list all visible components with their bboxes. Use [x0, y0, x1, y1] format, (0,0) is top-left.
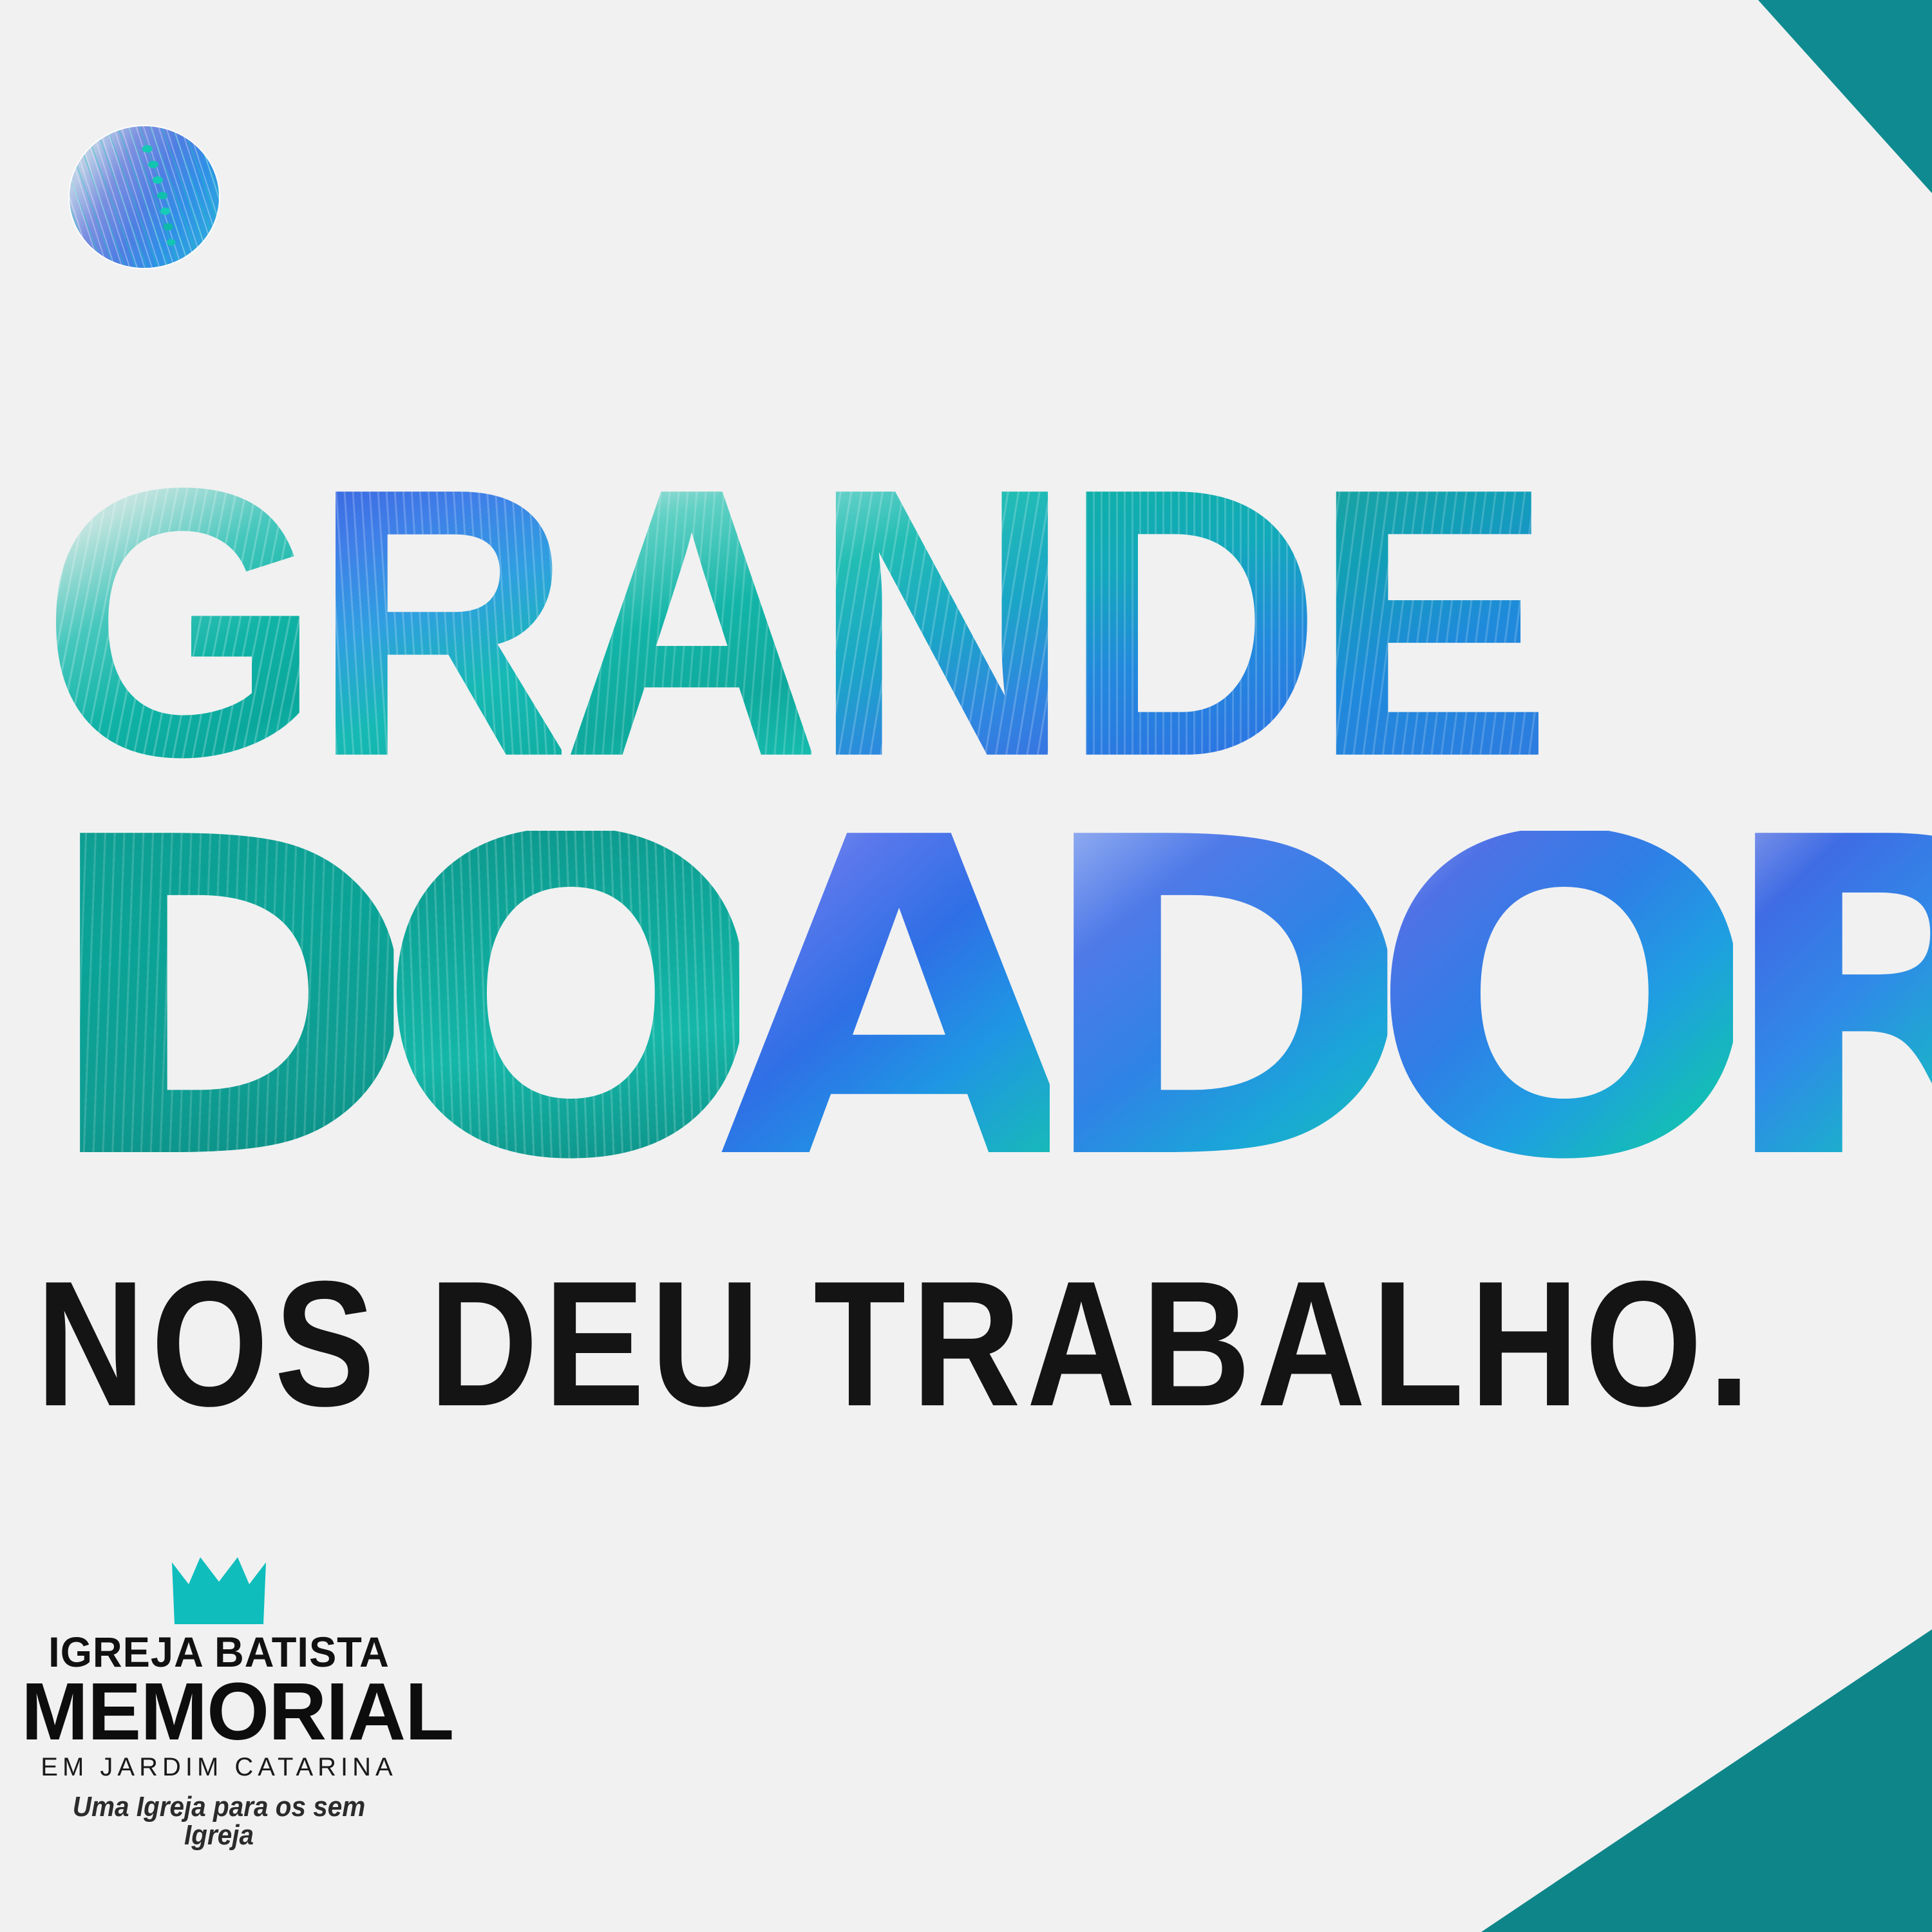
hero-word-doador: D O A D O R [37, 831, 1932, 1172]
hero-letter-r: R [312, 473, 562, 772]
poster-canvas: G R A N D E D O A D O R NOS DEU TRABALHO… [0, 0, 1932, 1932]
top-right-triangle-ornament [1758, 0, 1932, 193]
church-name-line2: MEMORIAL [21, 1674, 417, 1749]
bottom-right-triangle-ornament [1481, 1629, 1932, 1932]
crown-icon [171, 1556, 267, 1625]
hero-letter-g: G [41, 473, 312, 772]
hero-letter-a: A [562, 473, 811, 772]
hero-word-grande: G R A N D E [41, 473, 1542, 755]
church-location: EM JARDIM CATARINA [19, 1754, 419, 1780]
hero-letter-o1: O [374, 831, 739, 1172]
hero-letter-d1: D [37, 831, 394, 1172]
hero-letter-r2: R [1712, 831, 1932, 1172]
hero-letter-e: E [1312, 473, 1542, 772]
hero-letter-d: D [1062, 473, 1312, 772]
hero-letter-d2: D [1031, 831, 1388, 1172]
hero-letter-n: N [811, 473, 1061, 772]
hero-letter-a2: A [719, 831, 1050, 1172]
hero-letter-o2: O [1367, 831, 1733, 1172]
hero-letter-o-mark [70, 126, 219, 268]
church-logo: IGREJA BATISTA MEMORIAL EM JARDIM CATARI… [19, 1556, 419, 1850]
hero-headline: NOS DEU TRABALHO. [36, 1242, 1756, 1446]
church-tagline: Uma Igreja para os sem Igreja [35, 1793, 402, 1850]
